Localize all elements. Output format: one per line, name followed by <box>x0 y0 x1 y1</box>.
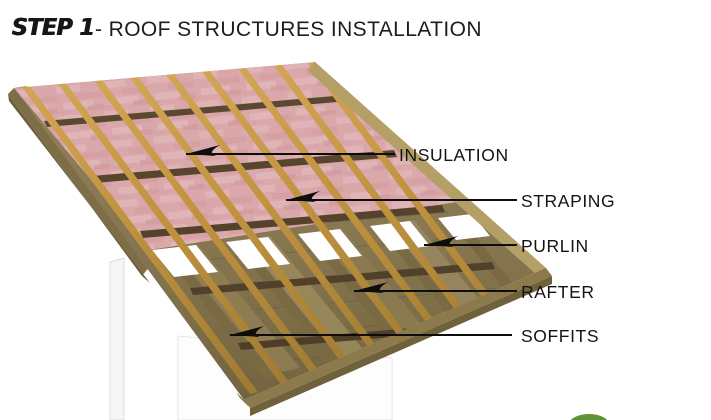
diagram-page: STEP 1 - ROOF STRUCTURES INSTALLATION <box>0 0 711 420</box>
callout-label-rafter: RAFTER <box>521 282 595 303</box>
callout-label-soffits: SOFFITS <box>521 326 599 347</box>
roof-plane <box>14 62 558 400</box>
callout-label-insulation: INSULATION <box>399 145 509 166</box>
callout-label-straping: STRAPING <box>521 191 615 212</box>
callout-label-purlin: PURLIN <box>521 236 589 257</box>
green-accent-shape <box>568 414 610 420</box>
